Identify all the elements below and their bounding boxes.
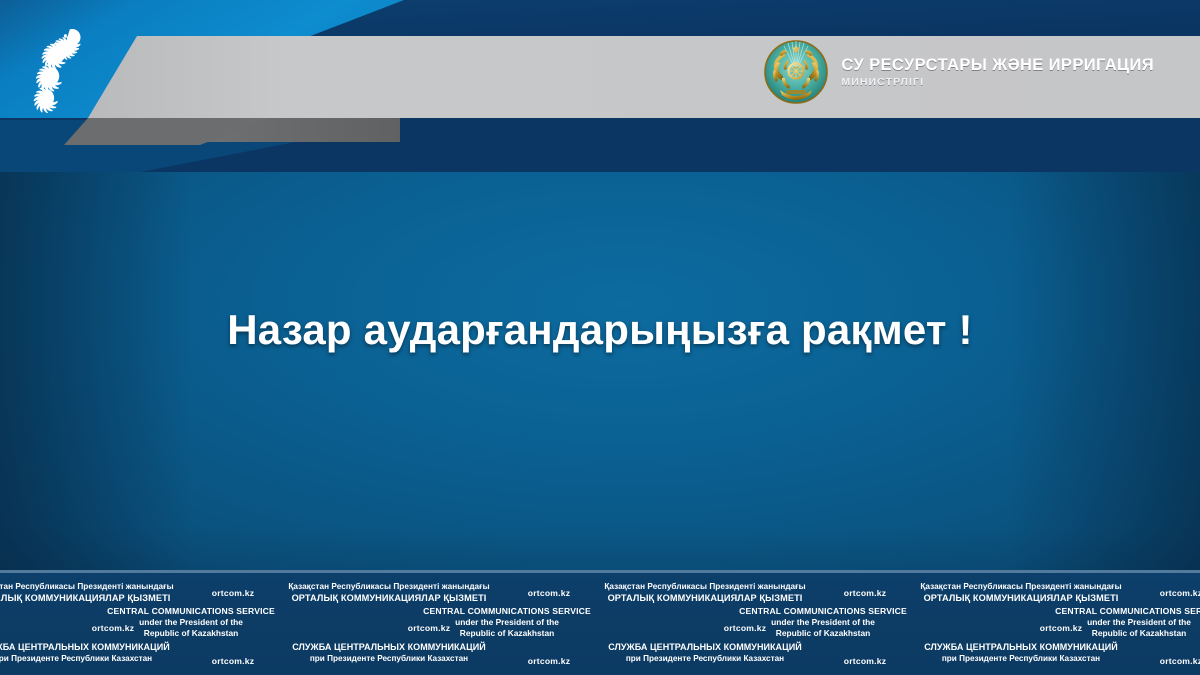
- footer-org-ru-line2: при Президенте Республики Казахстан: [264, 653, 514, 664]
- footer-org-en-line1: CENTRAL COMMUNICATIONS SERVICE: [1014, 606, 1200, 617]
- footer-org-kk: Қазақстан Республикасы Президенті жанынд…: [264, 581, 514, 604]
- footer-org-ru-line2: при Президенте Республики Казахстан: [580, 653, 830, 664]
- footer-org-ru: СЛУЖБА ЦЕНТРАЛЬНЫХ КОММУНИКАЦИЙпри Прези…: [896, 641, 1146, 664]
- footer-sponsor-group: Қазақстан Республикасы Президенті жанынд…: [896, 573, 1200, 672]
- footer-website-link[interactable]: ortcom.kz: [1136, 656, 1200, 666]
- ministry-subtitle-kk: МИНИСТРЛІГІ: [841, 77, 1154, 88]
- presentation-slide: СУ РЕСУРСТАРЫ ЖӘНЕ ИРРИГАЦИЯ МИНИСТРЛІГІ…: [0, 0, 1200, 675]
- ministry-logo: СУ РЕСУРСТАРЫ ЖӘНЕ ИРРИГАЦИЯ МИНИСТРЛІГІ: [764, 40, 1154, 104]
- footer-org-ru: СЛУЖБА ЦЕНТРАЛЬНЫХ КОММУНИКАЦИЙпри Прези…: [0, 641, 198, 664]
- footer-sponsor-group: Қазақстан Республикасы Президенті жанынд…: [580, 573, 896, 672]
- footer-org-kk-line1: Қазақстан Республикасы Президенті жанынд…: [896, 581, 1146, 592]
- footer-sponsor-group: Қазақстан Республикасы Президенті жанынд…: [264, 573, 580, 672]
- footer-org-ru-line1: СЛУЖБА ЦЕНТРАЛЬНЫХ КОММУНИКАЦИЙ: [264, 641, 514, 653]
- slide-footer: Қазақстан Республикасы Президенті жанынд…: [0, 570, 1200, 675]
- footer-org-kk-line2: ОРТАЛЫҚ КОММУНИКАЦИЯЛАР ҚЫЗМЕТІ: [580, 592, 830, 604]
- ministry-title-kk: СУ РЕСУРСТАРЫ ЖӘНЕ ИРРИГАЦИЯ: [841, 57, 1154, 74]
- footer-sponsor-group: Қазақстан Республикасы Президенті жанынд…: [0, 573, 264, 672]
- footer-website-link[interactable]: ortcom.kz: [384, 623, 474, 633]
- slide-title: Назар аударғандарыңызға рақмет !: [0, 306, 1200, 354]
- footer-org-ru-line1: СЛУЖБА ЦЕНТРАЛЬНЫХ КОММУНИКАЦИЙ: [896, 641, 1146, 653]
- footer-website-link[interactable]: ortcom.kz: [1136, 588, 1200, 598]
- footer-org-ru-line2: при Президенте Республики Казахстан: [0, 653, 198, 664]
- footer-website-link[interactable]: ortcom.kz: [1016, 623, 1106, 633]
- ministry-name-block: СУ РЕСУРСТАРЫ ЖӘНЕ ИРРИГАЦИЯ МИНИСТРЛІГІ: [841, 57, 1154, 88]
- footer-website-link[interactable]: ortcom.kz: [68, 623, 158, 633]
- footer-website-link[interactable]: ortcom.kz: [700, 623, 790, 633]
- footer-org-ru: СЛУЖБА ЦЕНТРАЛЬНЫХ КОММУНИКАЦИЙпри Прези…: [264, 641, 514, 664]
- footer-org-kk-line1: Қазақстан Республикасы Президенті жанынд…: [264, 581, 514, 592]
- kazakhstan-state-emblem-icon: [764, 40, 828, 104]
- snow-leopard-icon: [22, 26, 96, 118]
- footer-org-ru-line1: СЛУЖБА ЦЕНТРАЛЬНЫХ КОММУНИКАЦИЙ: [0, 641, 198, 653]
- footer-org-kk-line1: Қазақстан Республикасы Президенті жанынд…: [0, 581, 198, 592]
- footer-sponsor-strip: Қазақстан Республикасы Президенті жанынд…: [0, 573, 1200, 672]
- footer-org-kk-line1: Қазақстан Республикасы Президенті жанынд…: [580, 581, 830, 592]
- footer-org-kk: Қазақстан Республикасы Президенті жанынд…: [580, 581, 830, 604]
- footer-org-kk-line2: ОРТАЛЫҚ КОММУНИКАЦИЯЛАР ҚЫЗМЕТІ: [0, 592, 198, 604]
- footer-org-ru-line1: СЛУЖБА ЦЕНТРАЛЬНЫХ КОММУНИКАЦИЙ: [580, 641, 830, 653]
- footer-org-kk-line2: ОРТАЛЫҚ КОММУНИКАЦИЯЛАР ҚЫЗМЕТІ: [896, 592, 1146, 604]
- footer-org-kk-line2: ОРТАЛЫҚ КОММУНИКАЦИЯЛАР ҚЫЗМЕТІ: [264, 592, 514, 604]
- footer-org-kk: Қазақстан Республикасы Президенті жанынд…: [0, 581, 198, 604]
- footer-org-kk: Қазақстан Республикасы Президенті жанынд…: [896, 581, 1146, 604]
- footer-org-ru: СЛУЖБА ЦЕНТРАЛЬНЫХ КОММУНИКАЦИЙпри Прези…: [580, 641, 830, 664]
- footer-org-ru-line2: при Президенте Республики Казахстан: [896, 653, 1146, 664]
- slide-header: СУ РЕСУРСТАРЫ ЖӘНЕ ИРРИГАЦИЯ МИНИСТРЛІГІ: [0, 0, 1200, 172]
